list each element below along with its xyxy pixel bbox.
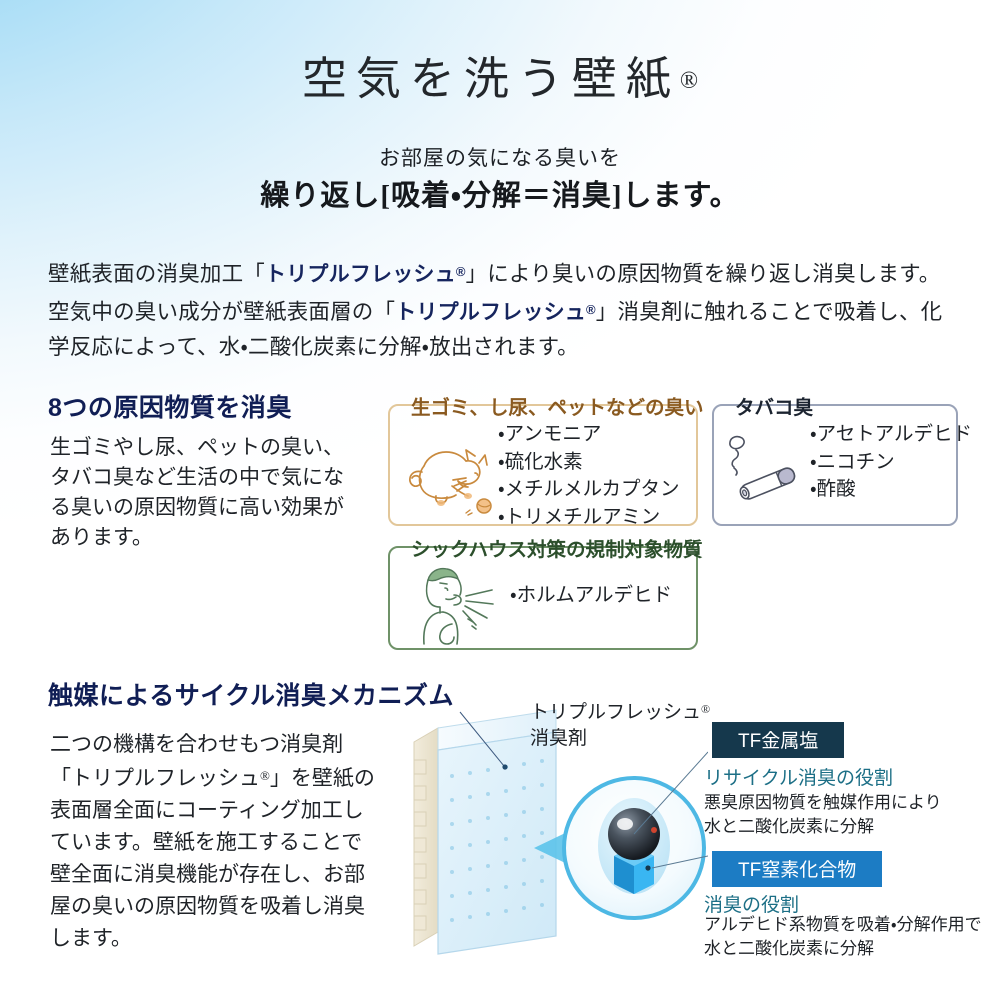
mechanism-body-post: 」を壁紙の表面層全面にコーティング加工しています。壁紙を施工することで壁全面に消… bbox=[50, 766, 375, 950]
page-background: 空気を洗う壁紙® お部屋の気になる臭いを 繰り返し[吸着・分解＝消臭]します。 … bbox=[0, 0, 1000, 1000]
diagram-caption-line-1: トリプルフレッシュ® bbox=[530, 696, 710, 726]
lead-headline: 繰り返し[吸着・分解＝消臭]します。 bbox=[0, 172, 1000, 214]
desc-line: 水と二酸化炭素に分解 bbox=[704, 815, 942, 839]
list-item: ・酢酸 bbox=[810, 476, 972, 504]
list-item: ・硫化水素 bbox=[498, 449, 680, 477]
diagram-caption-text: トリプルフレッシュ bbox=[530, 702, 701, 723]
list-item: ・ニコチン bbox=[810, 449, 972, 477]
brand-text-1: トリプルフレッシュ bbox=[265, 263, 456, 286]
page-title-text: 空気を洗う壁紙 bbox=[302, 54, 680, 104]
list-item: ・アセトアルデヒド bbox=[810, 421, 972, 449]
panel-legend-sick-house: シックハウス対策の規制対象物質 bbox=[404, 533, 710, 562]
registered-mark-icon: ® bbox=[701, 702, 710, 716]
panel-bullets-household: ・アンモニア ・硫化水素 ・メチルメルカプタン ・トリメチルアミン bbox=[498, 421, 680, 531]
list-item: ・ホルムアルデヒド bbox=[510, 582, 672, 610]
tag-tf-nitrogen-compound: TF窒素化合物 bbox=[712, 851, 882, 887]
intro-paragraph: 壁紙表面の消臭加工「トリプルフレッシュ®」により臭いの原因物質を繰り返し消臭しま… bbox=[48, 254, 956, 365]
brand-text-2: トリプルフレッシュ bbox=[395, 301, 586, 324]
brand-name-2: トリプルフレッシュ® bbox=[395, 301, 596, 324]
panel-bullets-tobacco: ・アセトアルデヒド ・ニコチン ・酢酸 bbox=[810, 421, 972, 504]
panel-legend-household: 生ゴミ、し尿、ペットなどの臭い bbox=[404, 391, 711, 420]
desc-line: アルデヒド系物質を吸着・分解作用で bbox=[704, 913, 982, 937]
tag-tf-metal-salt: TF金属塩 bbox=[712, 722, 844, 758]
section-body-mechanism: 二つの機構を合わせもつ消臭剤「トリプルフレッシュ®」を壁紙の表面層全面にコーティ… bbox=[50, 728, 380, 954]
diagram-caption-triple-fresh: トリプルフレッシュ® 消臭剤 bbox=[530, 696, 710, 752]
registered-mark-icon: ® bbox=[456, 264, 466, 279]
list-item: ・トリメチルアミン bbox=[498, 504, 680, 532]
cigarette-icon bbox=[722, 426, 810, 508]
panel-tobacco-odor: タバコ臭 ・アセトアルデヒド ・ニコチン ・酢酸 bbox=[712, 404, 958, 526]
section-body-odor: 生ゴミやし尿、ペットの臭い、タバコ臭など生活の中で気になる臭いの原因物質に高い効… bbox=[50, 432, 360, 552]
desc-tf-nitrogen-compound: アルデヒド系物質を吸着・分解作用で 水と二酸化炭素に分解 bbox=[704, 913, 982, 961]
lead-subtitle: お部屋の気になる臭いを bbox=[0, 142, 1000, 172]
panel-bullets-sick-house: ・ホルムアルデヒド bbox=[510, 582, 672, 610]
panel-sick-house: シックハウス対策の規制対象物質 bbox=[388, 546, 698, 650]
cat-icon bbox=[396, 422, 500, 518]
list-item: ・メチルメルカプタン bbox=[498, 476, 680, 504]
section-heading-odor: 8つの原因物質を消臭 bbox=[48, 388, 292, 424]
panel-legend-tobacco: タバコ臭 bbox=[728, 391, 820, 420]
panel-household-odor: 生ゴミ、し尿、ペットなどの臭い bbox=[388, 404, 698, 526]
desc-line: 悪臭原因物質を触媒作用により bbox=[704, 791, 942, 815]
section-heading-mechanism: 触媒によるサイクル消臭メカニズム bbox=[48, 676, 454, 712]
desc-line: 水と二酸化炭素に分解 bbox=[704, 937, 982, 961]
diagram-caption-line-2: 消臭剤 bbox=[530, 726, 710, 752]
list-item: ・アンモニア bbox=[498, 421, 680, 449]
registered-mark-icon: ® bbox=[680, 68, 698, 94]
role-tf-metal-salt: リサイクル消臭の役割 bbox=[704, 763, 893, 790]
intro-part-1: 壁紙表面の消臭加工「 bbox=[48, 262, 265, 286]
desc-tf-metal-salt: 悪臭原因物質を触媒作用により 水と二酸化炭素に分解 bbox=[704, 791, 942, 839]
coughing-person-icon bbox=[404, 560, 510, 646]
registered-mark-icon: ® bbox=[586, 302, 596, 317]
page-title: 空気を洗う壁紙® bbox=[0, 42, 1000, 107]
brand-name-1: トリプルフレッシュ® bbox=[265, 263, 466, 286]
registered-mark-icon: ® bbox=[260, 768, 270, 783]
